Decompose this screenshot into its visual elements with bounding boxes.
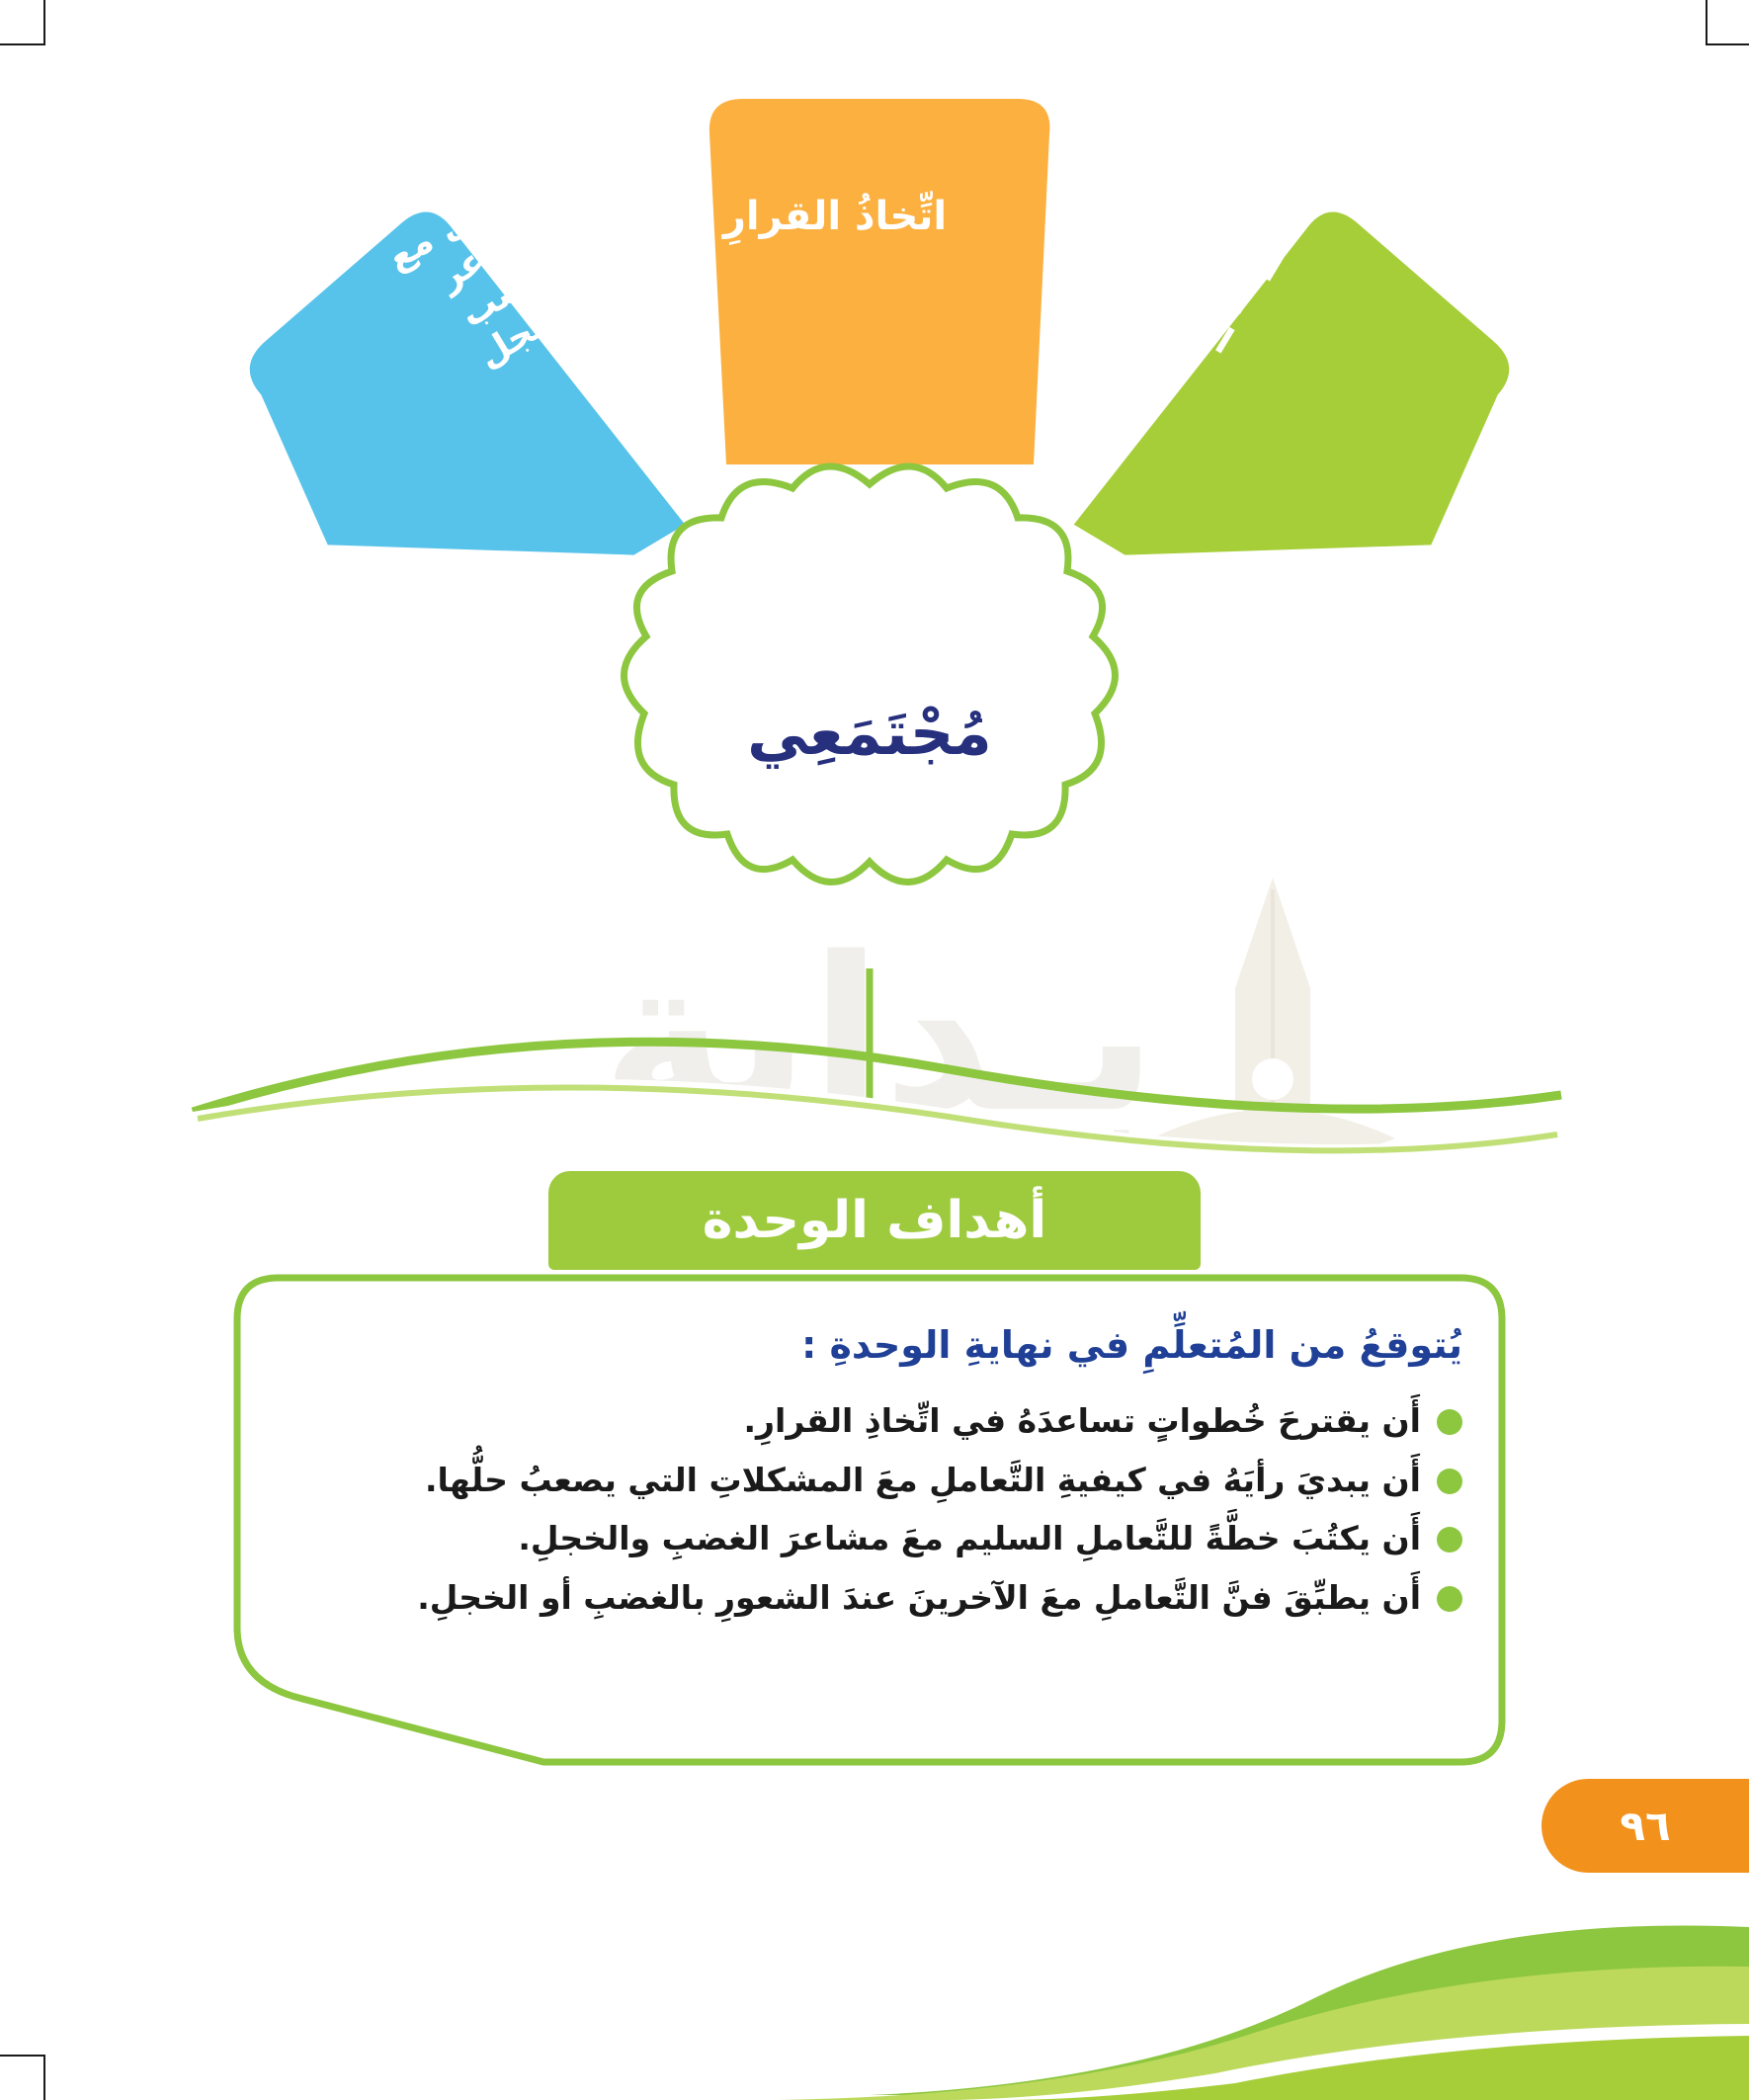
flower-svg	[0, 0, 1749, 1186]
textbook-page: بـداية b e a d a y a . c o m مـوقـع بـدا…	[0, 0, 1749, 2100]
goal-item: أَن يكتُبَ خطَّةً للتَّعاملِ السليم معَ …	[277, 1517, 1462, 1560]
goal-text: أَن يبديَ رأيَهُ في كيفيةِ التَّعاملِ مع…	[425, 1459, 1421, 1502]
unit-goals-box: يُتوقعُ من المُتعلِّمِ في نهايةِ الوحدةِ…	[208, 1260, 1532, 1784]
goal-item: أَن يبديَ رأيَهُ في كيفيةِ التَّعاملِ مع…	[277, 1459, 1462, 1502]
flower-head-outline	[624, 466, 1115, 882]
bullet-dot-icon	[1437, 1469, 1462, 1494]
goals-intro-text: يُتوقعُ من المُتعلِّمِ في نهايةِ الوحدةِ…	[277, 1321, 1462, 1370]
goals-content: يُتوقعُ من المُتعلِّمِ في نهايةِ الوحدةِ…	[208, 1260, 1532, 1784]
flower-diagram: التَّعامُل مع مشاعر الغضب والخجل اتِّخاذ…	[0, 0, 1749, 1186]
bottom-decoration	[0, 1907, 1749, 2100]
goal-text: أَن يقترحَ خُطواتٍ تساعدَهُ في اتِّخاذِ …	[743, 1399, 1421, 1443]
petal-blue-shape	[214, 167, 688, 673]
page-number-badge: ٩٦	[1541, 1779, 1749, 1873]
petal-green-shape	[1072, 167, 1545, 673]
goal-text: أَن يكتُبَ خطَّةً للتَّعاملِ السليم معَ …	[518, 1517, 1421, 1560]
goal-item: أَن يقترحَ خُطواتٍ تساعدَهُ في اتِّخاذِ …	[277, 1399, 1462, 1443]
unit-goals-title: أهداف الوحدة	[703, 1191, 1046, 1250]
goal-text: أَن يطبِّقَ فنَّ التَّعاملِ معَ الآخرينَ…	[417, 1576, 1421, 1620]
goal-item: أَن يطبِّقَ فنَّ التَّعاملِ معَ الآخرينَ…	[277, 1576, 1462, 1620]
petal-orange-shape	[709, 99, 1050, 464]
flower-center-label: مُجْتَمَعِي	[613, 697, 1126, 769]
page-number: ٩٦	[1620, 1802, 1670, 1850]
bullet-dot-icon	[1437, 1586, 1462, 1612]
bullet-dot-icon	[1437, 1409, 1462, 1435]
unit-goals-banner: أهداف الوحدة	[548, 1171, 1201, 1270]
bullet-dot-icon	[1437, 1527, 1462, 1553]
